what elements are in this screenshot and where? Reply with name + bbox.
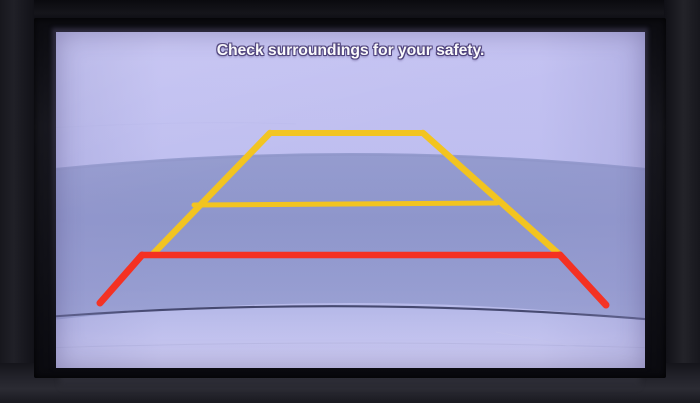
console-left-panel <box>0 0 34 403</box>
camera-feed-image <box>56 32 645 368</box>
rear-camera-display[interactable]: Check surroundings for your safety. <box>56 32 645 368</box>
screenshot-root: Check surroundings for your safety. <box>0 0 700 403</box>
console-right-panel <box>664 0 700 403</box>
guideline-yellow-mid-bar <box>194 203 497 205</box>
camera-lens-vignette <box>56 32 645 368</box>
